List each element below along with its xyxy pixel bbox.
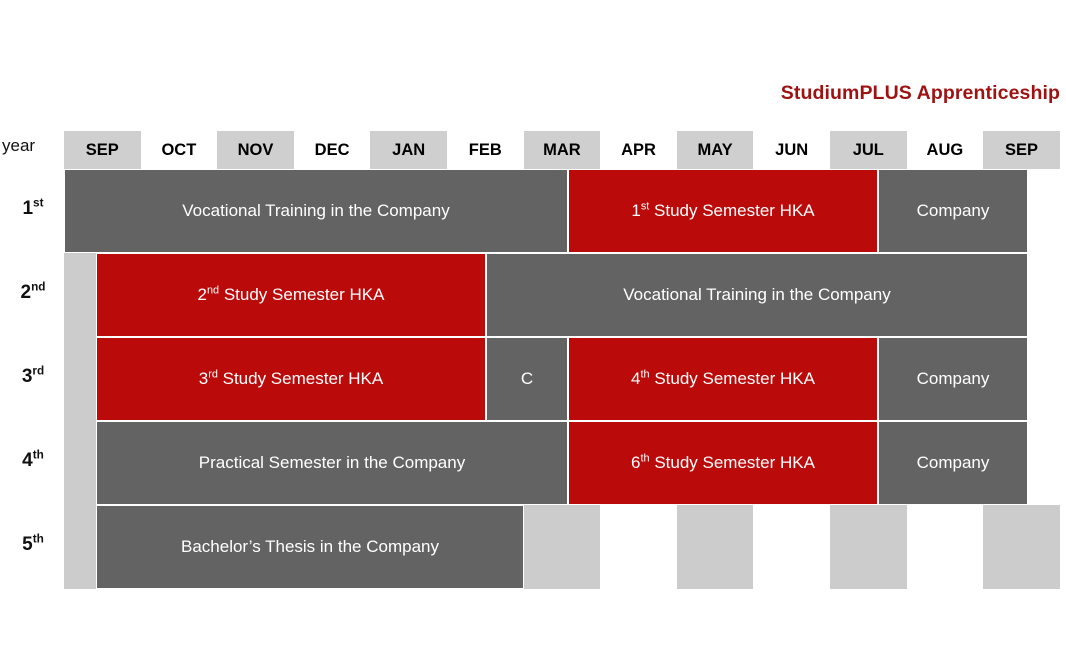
bar-label-suffix: Study Semester HKA: [650, 369, 815, 388]
bar-label-suffix: Study Semester HKA: [650, 453, 815, 472]
bar-label: Vocational Training in the Company: [623, 285, 890, 305]
bar-label-superscript: rd: [208, 368, 218, 380]
bar-label: 2nd Study Semester HKA: [198, 285, 385, 305]
bar-y3-company-short[interactable]: C: [486, 337, 568, 421]
month-header-may-8: MAY: [677, 131, 754, 169]
year-ordinal: th: [33, 533, 44, 546]
bar-label: Company: [917, 453, 990, 473]
bar-y4-practical-semester[interactable]: Practical Semester in the Company: [96, 421, 568, 505]
bar-y4-study-semester-6[interactable]: 6th Study Semester HKA: [568, 421, 878, 505]
year-number: 2: [21, 282, 32, 303]
stripe-sep-left: [64, 253, 96, 589]
bar-y3-company[interactable]: Company: [878, 337, 1028, 421]
year-label-5: 5th: [6, 534, 60, 556]
year-label-3: 3rd: [6, 366, 60, 388]
bar-label-prefix: 4: [631, 369, 640, 388]
bar-label: Vocational Training in the Company: [182, 201, 449, 221]
year-number: 1: [22, 198, 33, 219]
page-title: StudiumPLUS Apprenticeship: [781, 82, 1060, 105]
bar-y1-study-semester-1[interactable]: 1st Study Semester HKA: [568, 169, 878, 253]
month-header-sep-0: SEP: [64, 131, 141, 169]
year-number: 5: [22, 534, 33, 555]
bar-label-prefix: 2: [198, 285, 207, 304]
year-ordinal: rd: [32, 365, 44, 378]
month-header-mar-6: MAR: [524, 131, 601, 169]
stripe-row5-col-10: [830, 505, 907, 589]
bar-y3-study-semester-4[interactable]: 4th Study Semester HKA: [568, 337, 878, 421]
month-header-oct-1: OCT: [141, 131, 218, 169]
month-header-feb-5: FEB: [447, 131, 524, 169]
bar-label: 6th Study Semester HKA: [631, 453, 815, 473]
bar-y3-study-semester-3[interactable]: 3rd Study Semester HKA: [96, 337, 486, 421]
month-header-aug-11: AUG: [907, 131, 984, 169]
month-header-dec-3: DEC: [294, 131, 371, 169]
bar-y2-vocational-training[interactable]: Vocational Training in the Company: [486, 253, 1028, 337]
bar-label-suffix: Study Semester HKA: [218, 369, 383, 388]
bar-y1-company[interactable]: Company: [878, 169, 1028, 253]
bar-label: Company: [917, 369, 990, 389]
bar-label: 1st Study Semester HKA: [631, 201, 814, 221]
bar-label-prefix: 3: [199, 369, 208, 388]
bar-label-superscript: th: [641, 452, 650, 464]
month-header-jun-9: JUN: [753, 131, 830, 169]
stripe-row5-col-12: [983, 505, 1060, 589]
year-label-4: 4th: [6, 450, 60, 472]
year-ordinal: nd: [31, 281, 45, 294]
month-header-apr-7: APR: [600, 131, 677, 169]
apprenticeship-timeline-chart: StudiumPLUS Apprenticeship year SEPOCTNO…: [0, 0, 1066, 666]
bar-label-superscript: nd: [207, 284, 219, 296]
bar-label: Practical Semester in the Company: [199, 453, 465, 473]
bar-label-prefix: 6: [631, 453, 640, 472]
bar-y1-vocational-training[interactable]: Vocational Training in the Company: [64, 169, 568, 253]
month-header-sep-12: SEP: [983, 131, 1060, 169]
month-header-jan-4: JAN: [370, 131, 447, 169]
bar-label-suffix: Study Semester HKA: [219, 285, 384, 304]
stripe-row5-col-8: [677, 505, 754, 589]
bar-y2-study-semester-2[interactable]: 2nd Study Semester HKA: [96, 253, 486, 337]
year-number: 4: [22, 450, 33, 471]
month-header-jul-10: JUL: [830, 131, 907, 169]
bar-label-superscript: th: [641, 368, 650, 380]
bar-label-prefix: 1: [631, 201, 640, 220]
year-ordinal: st: [33, 197, 43, 210]
year-axis-label: year: [2, 136, 35, 156]
bar-label: Bachelor’s Thesis in the Company: [181, 537, 439, 557]
year-ordinal: th: [33, 449, 44, 462]
month-header-nov-2: NOV: [217, 131, 294, 169]
year-label-1: 1st: [6, 198, 60, 220]
bar-label: C: [521, 369, 533, 389]
bar-y5-bachelors-thesis[interactable]: Bachelor’s Thesis in the Company: [96, 505, 524, 589]
bar-label: 4th Study Semester HKA: [631, 369, 815, 389]
bar-y4-company[interactable]: Company: [878, 421, 1028, 505]
year-number: 3: [22, 366, 33, 387]
bar-label: 3rd Study Semester HKA: [199, 369, 383, 389]
year-label-2: 2nd: [6, 282, 60, 304]
stripe-row5-col-6: [524, 505, 601, 589]
bar-label-suffix: Study Semester HKA: [649, 201, 814, 220]
bar-label: Company: [917, 201, 990, 221]
